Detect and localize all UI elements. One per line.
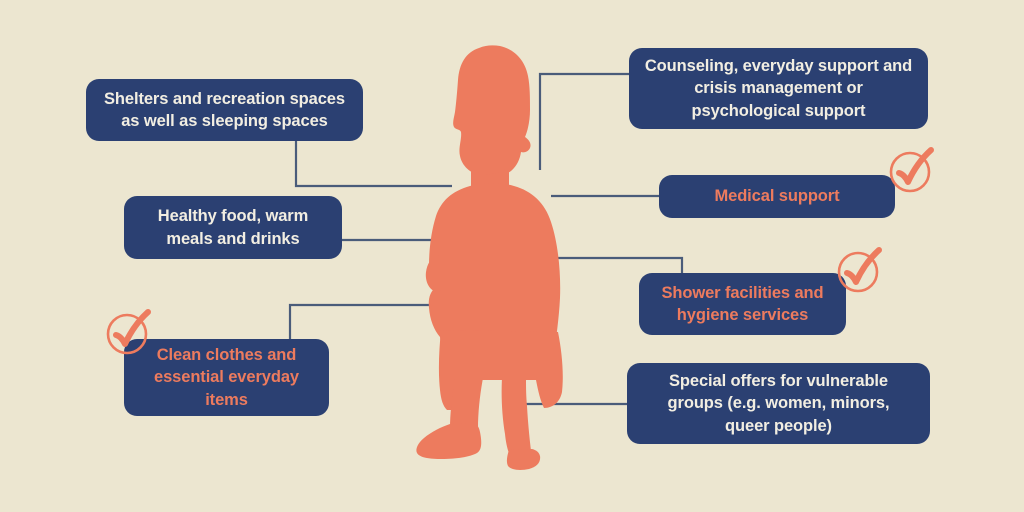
card-shower-line1: Shower facilities and (661, 284, 823, 302)
card-medical-line1: Medical support (714, 187, 839, 205)
check-circle-icon (102, 305, 156, 359)
infographic-canvas: Shelters and recreation spaces as well a… (0, 0, 1024, 512)
card-clothes-line1: Clean clothes and (157, 346, 297, 364)
card-clothes-line3: items (205, 391, 248, 409)
card-counseling-line3: psychological support (692, 102, 866, 120)
check-circle-icon (833, 243, 887, 297)
card-counseling-line1: Counseling, everyday support and (645, 57, 912, 75)
card-medical[interactable]: Medical support (659, 175, 895, 218)
card-shelters-line1: Shelters and recreation spaces (104, 90, 345, 108)
card-clothes-line2: essential everyday (154, 368, 299, 386)
card-special-line2: groups (e.g. women, minors, (668, 394, 890, 412)
card-shower-line2: hygiene services (677, 306, 808, 324)
card-food[interactable]: Healthy food, warm meals and drinks (124, 196, 342, 259)
card-shelters[interactable]: Shelters and recreation spaces as well a… (86, 79, 363, 141)
card-special-line3: queer people) (725, 417, 832, 435)
card-counseling-line2: crisis management or (694, 79, 863, 97)
card-food-line2: meals and drinks (166, 230, 299, 248)
card-shelters-line2: as well as sleeping spaces (121, 112, 328, 130)
card-counseling[interactable]: Counseling, everyday support and crisis … (629, 48, 928, 129)
card-special-line1: Special offers for vulnerable (669, 372, 888, 390)
card-shower[interactable]: Shower facilities and hygiene services (639, 273, 846, 335)
check-circle-icon (885, 143, 939, 197)
card-food-line1: Healthy food, warm (158, 207, 308, 225)
card-special[interactable]: Special offers for vulnerable groups (e.… (627, 363, 930, 444)
